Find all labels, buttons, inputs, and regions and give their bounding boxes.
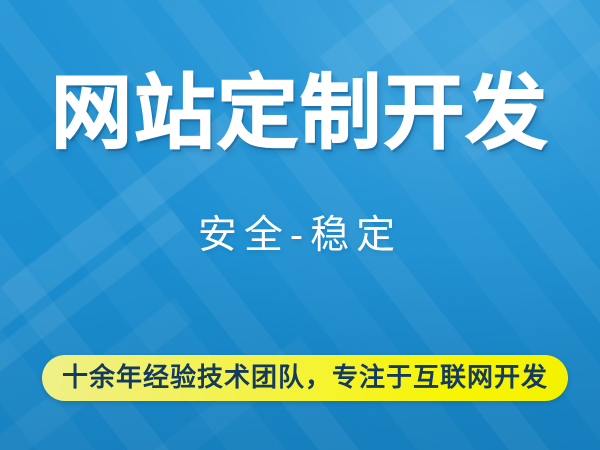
poster-content: 网站定制开发 安全-稳定 十余年经验技术团队，专注于互联网开发 [0, 0, 600, 450]
tagline-ribbon-text: 十余年经验技术团队，专注于互联网开发 [62, 365, 548, 391]
poster-subheadline: 安全-稳定 [0, 216, 600, 255]
poster-headline: 网站定制开发 [0, 74, 600, 155]
tagline-ribbon: 十余年经验技术团队，专注于互联网开发 [42, 355, 568, 401]
promo-poster: 网站定制开发 安全-稳定 十余年经验技术团队，专注于互联网开发 [0, 0, 600, 450]
